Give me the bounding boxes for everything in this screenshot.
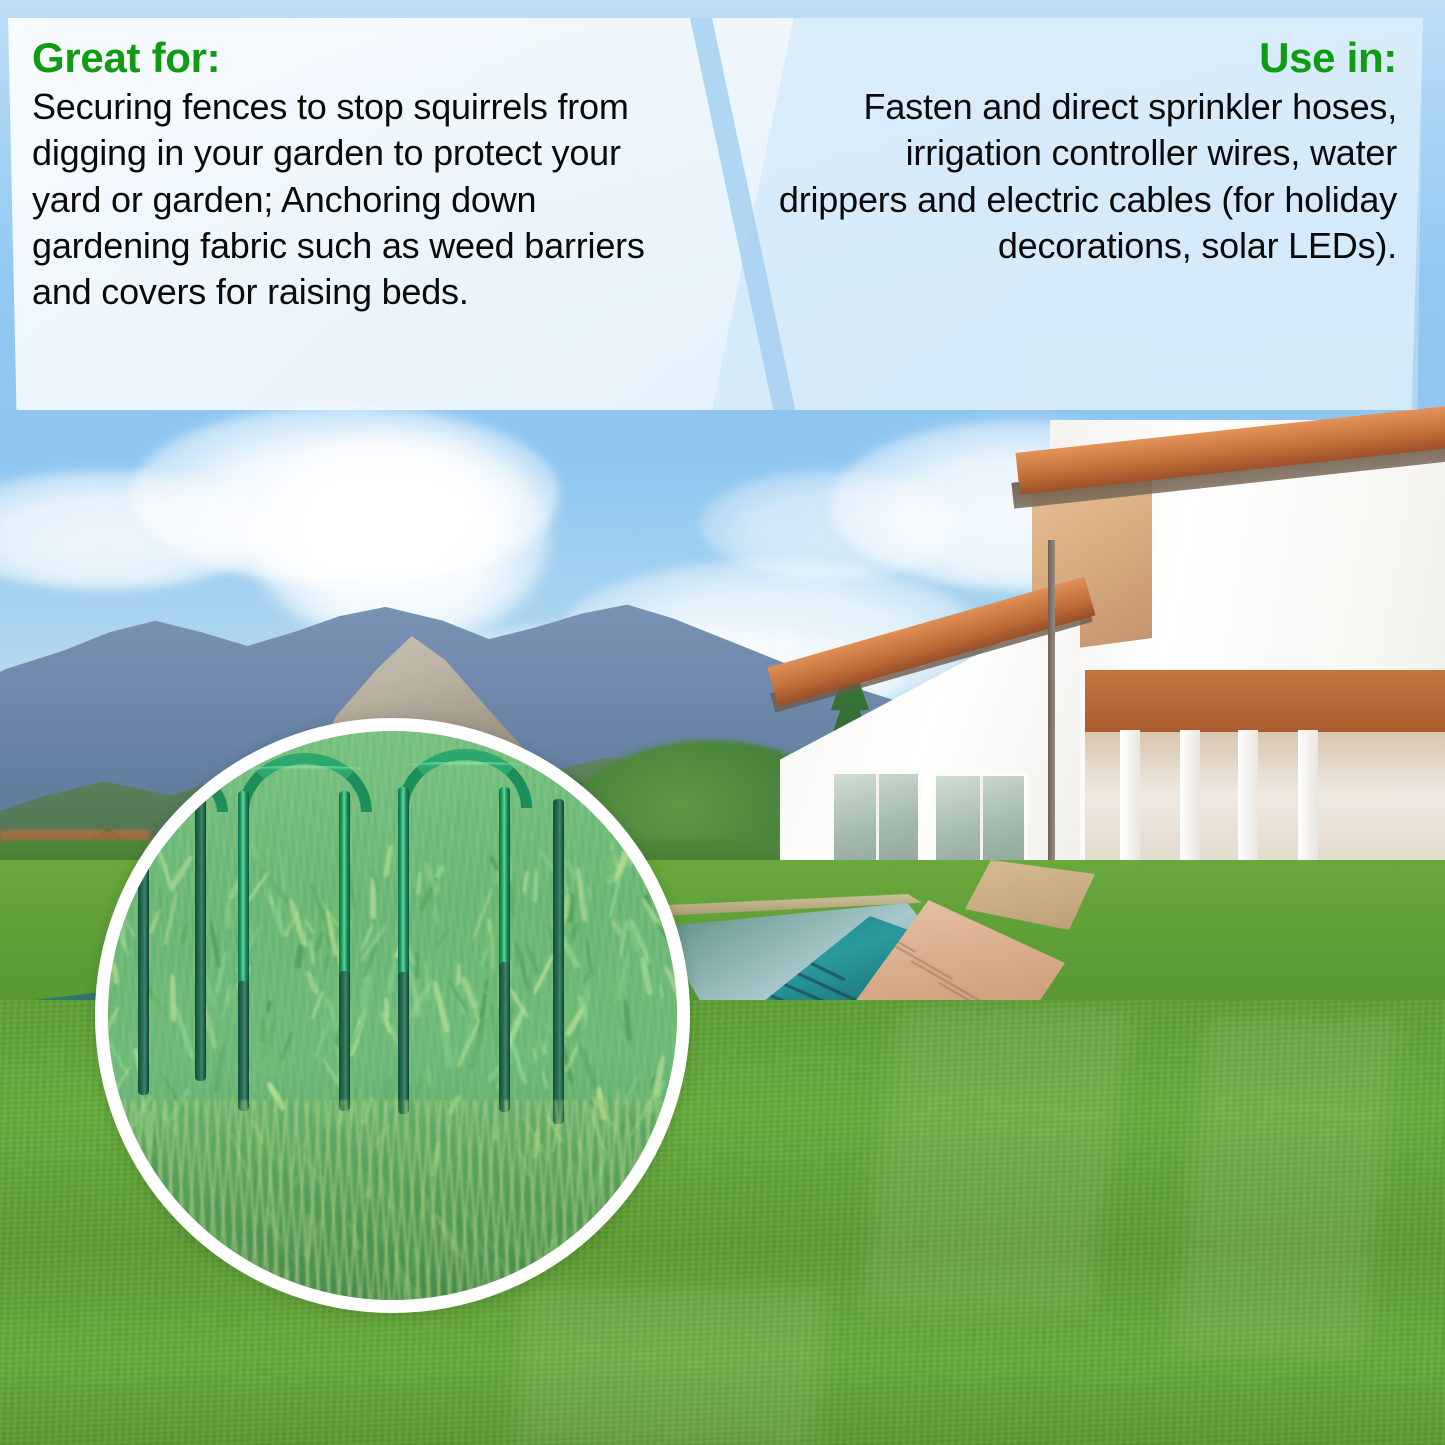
grass-blade (542, 1043, 546, 1054)
grass-blade (659, 984, 664, 998)
grass-blade (532, 868, 538, 902)
grass-blade (99, 1027, 129, 1076)
great-for-column: Great for: Securing fences to stop squir… (8, 18, 698, 410)
staple-leg (499, 962, 510, 1112)
mow-stripe (1173, 1020, 1398, 1350)
great-for-body: Securing fences to stop squirrels from d… (32, 84, 674, 316)
staple-leg (138, 795, 149, 1095)
great-for-heading: Great for: (32, 36, 674, 80)
grass-blade (617, 952, 630, 1001)
grass-blade (383, 997, 390, 1018)
grass-blade (226, 871, 231, 890)
grass-blade (208, 921, 221, 968)
staple-leg (339, 791, 350, 981)
grass-blade (584, 936, 595, 975)
grass-blade (531, 1061, 541, 1088)
grass-blade (226, 900, 232, 929)
grass-blade (126, 858, 137, 882)
use-in-body: Fasten and direct sprinkler hoses, irrig… (770, 84, 1397, 270)
grass-blade (102, 1006, 120, 1036)
grass-blade (111, 1065, 132, 1097)
garden-staple (138, 771, 206, 1101)
garden-staple (238, 753, 350, 1128)
staple-leg (398, 787, 409, 982)
use-in-column: Use in: Fasten and direct sprinkler hose… (760, 18, 1423, 410)
use-in-heading: Use in: (770, 36, 1397, 80)
grass-blade (213, 1044, 226, 1093)
grass-blade (524, 943, 540, 976)
grass-blade (383, 1076, 393, 1099)
staple-leg (339, 971, 350, 1111)
staple-leg (499, 787, 510, 972)
grass-blade (655, 847, 669, 877)
foreground-grass (98, 1100, 687, 1310)
grass-blade (356, 859, 372, 881)
staple-leg (238, 791, 249, 991)
grass-blade (112, 964, 118, 984)
grass-blade (548, 926, 553, 940)
mow-stripe (514, 1290, 825, 1445)
staple-leg (195, 795, 206, 1081)
grass-blade (585, 883, 592, 900)
grass-blade (663, 964, 687, 1007)
grass-blade (540, 1070, 549, 1091)
product-banner: Great for: Securing fences to stop squir… (0, 0, 1445, 1445)
mow-stripe (859, 1010, 1131, 1310)
garden-staple (553, 799, 583, 1129)
staple-leg (553, 799, 564, 1124)
patio-ceiling (1085, 670, 1445, 732)
grass-blade (523, 871, 529, 893)
grass-blade (632, 851, 643, 868)
staple-leg (238, 981, 249, 1111)
staple-leg (398, 972, 409, 1114)
grass-blade (383, 843, 393, 877)
garden-staple (398, 749, 510, 1129)
garden-staples-inset (95, 718, 690, 1313)
